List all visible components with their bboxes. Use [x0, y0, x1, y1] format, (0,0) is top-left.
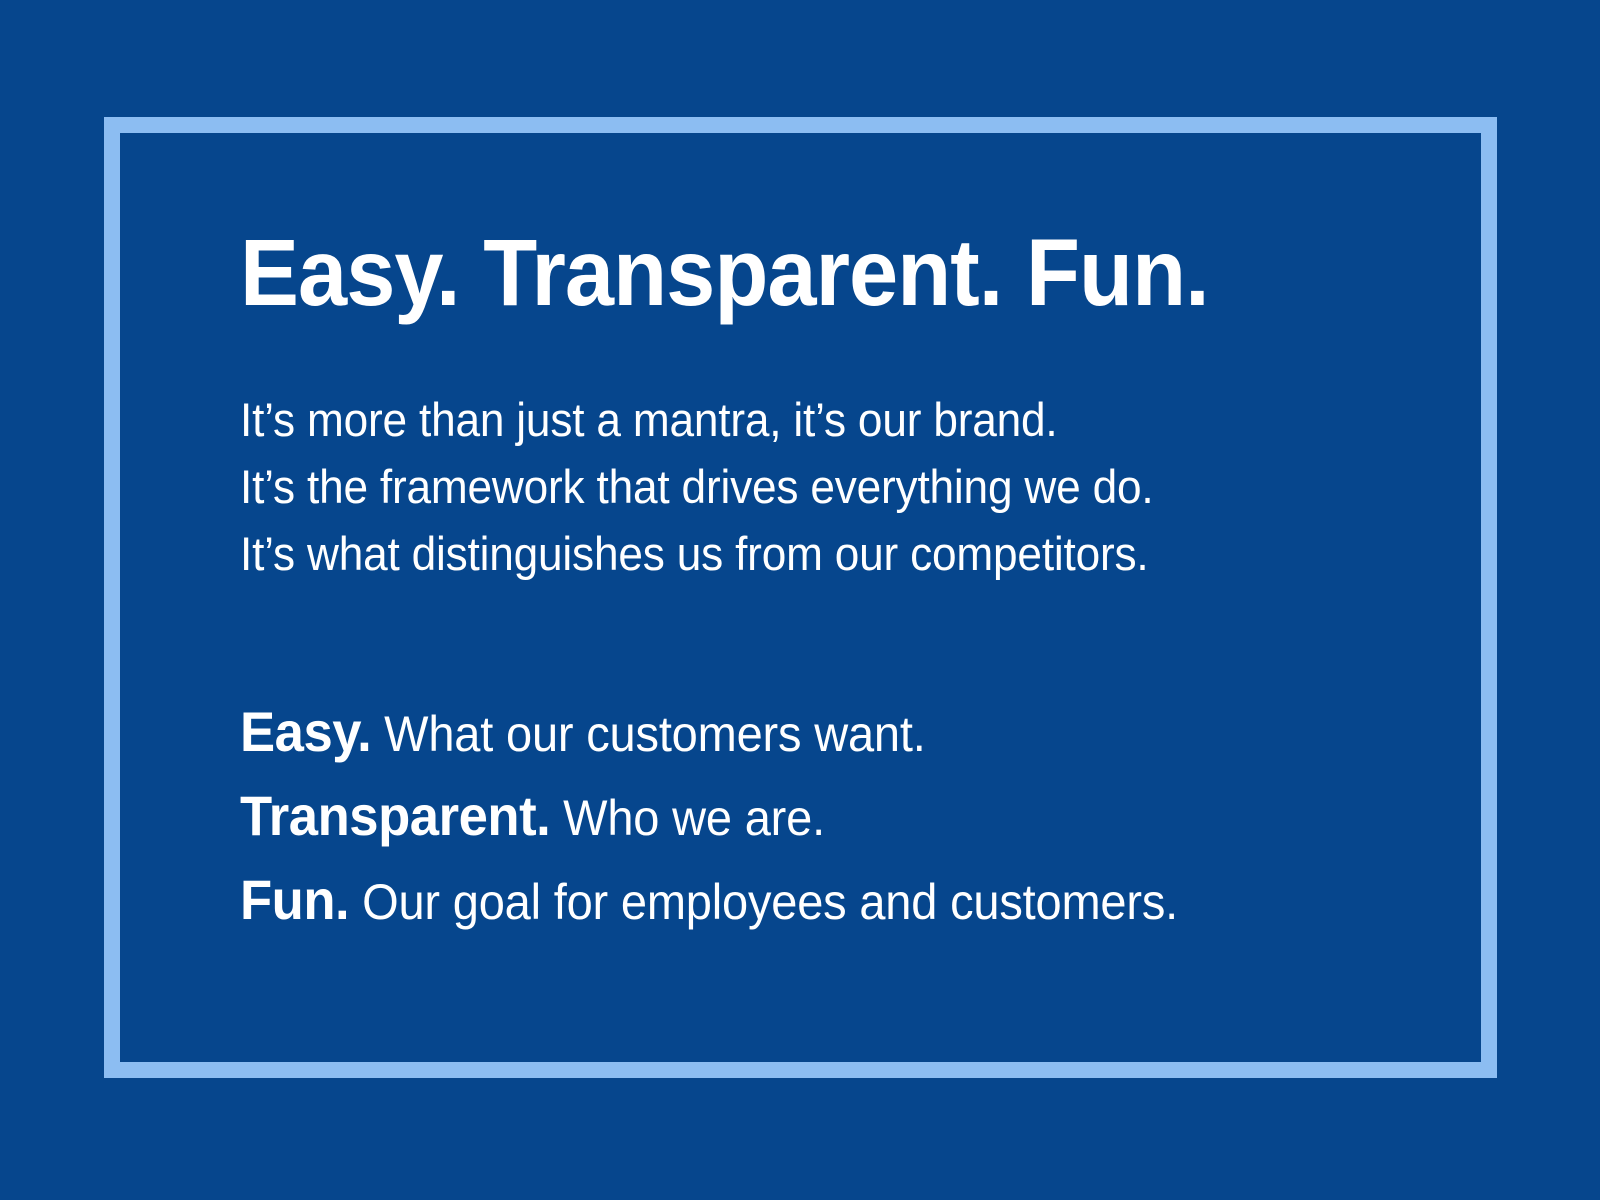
- intro-line-3: It’s what distinguishes us from our comp…: [240, 520, 1349, 587]
- pillar-item-transparent: Transparent. Who we are.: [240, 775, 1349, 859]
- page-title: Easy. Transparent. Fun.: [240, 225, 1337, 322]
- intro-line-1: It’s more than just a mantra, it’s our b…: [240, 386, 1349, 453]
- pillar-list: Easy. What our customers want. Transpare…: [240, 691, 1349, 943]
- intro-line-2: It’s the framework that drives everythin…: [240, 453, 1349, 520]
- pillar-term-transparent: Transparent.: [240, 784, 550, 847]
- pillar-item-fun: Fun. Our goal for employees and customer…: [240, 859, 1349, 943]
- pillar-description-fun: Our goal for employees and customers.: [362, 874, 1178, 930]
- pillar-term-easy: Easy.: [240, 700, 371, 763]
- intro-paragraph: It’s more than just a mantra, it’s our b…: [240, 386, 1349, 587]
- pillar-description-easy: What our customers want.: [384, 706, 925, 762]
- slide-canvas: Easy. Transparent. Fun. It’s more than j…: [0, 0, 1600, 1200]
- pillar-description-transparent: Who we are.: [563, 790, 825, 846]
- pillar-term-fun: Fun.: [240, 868, 349, 931]
- pillar-item-easy: Easy. What our customers want.: [240, 691, 1349, 775]
- slide-content: Easy. Transparent. Fun. It’s more than j…: [240, 225, 1420, 943]
